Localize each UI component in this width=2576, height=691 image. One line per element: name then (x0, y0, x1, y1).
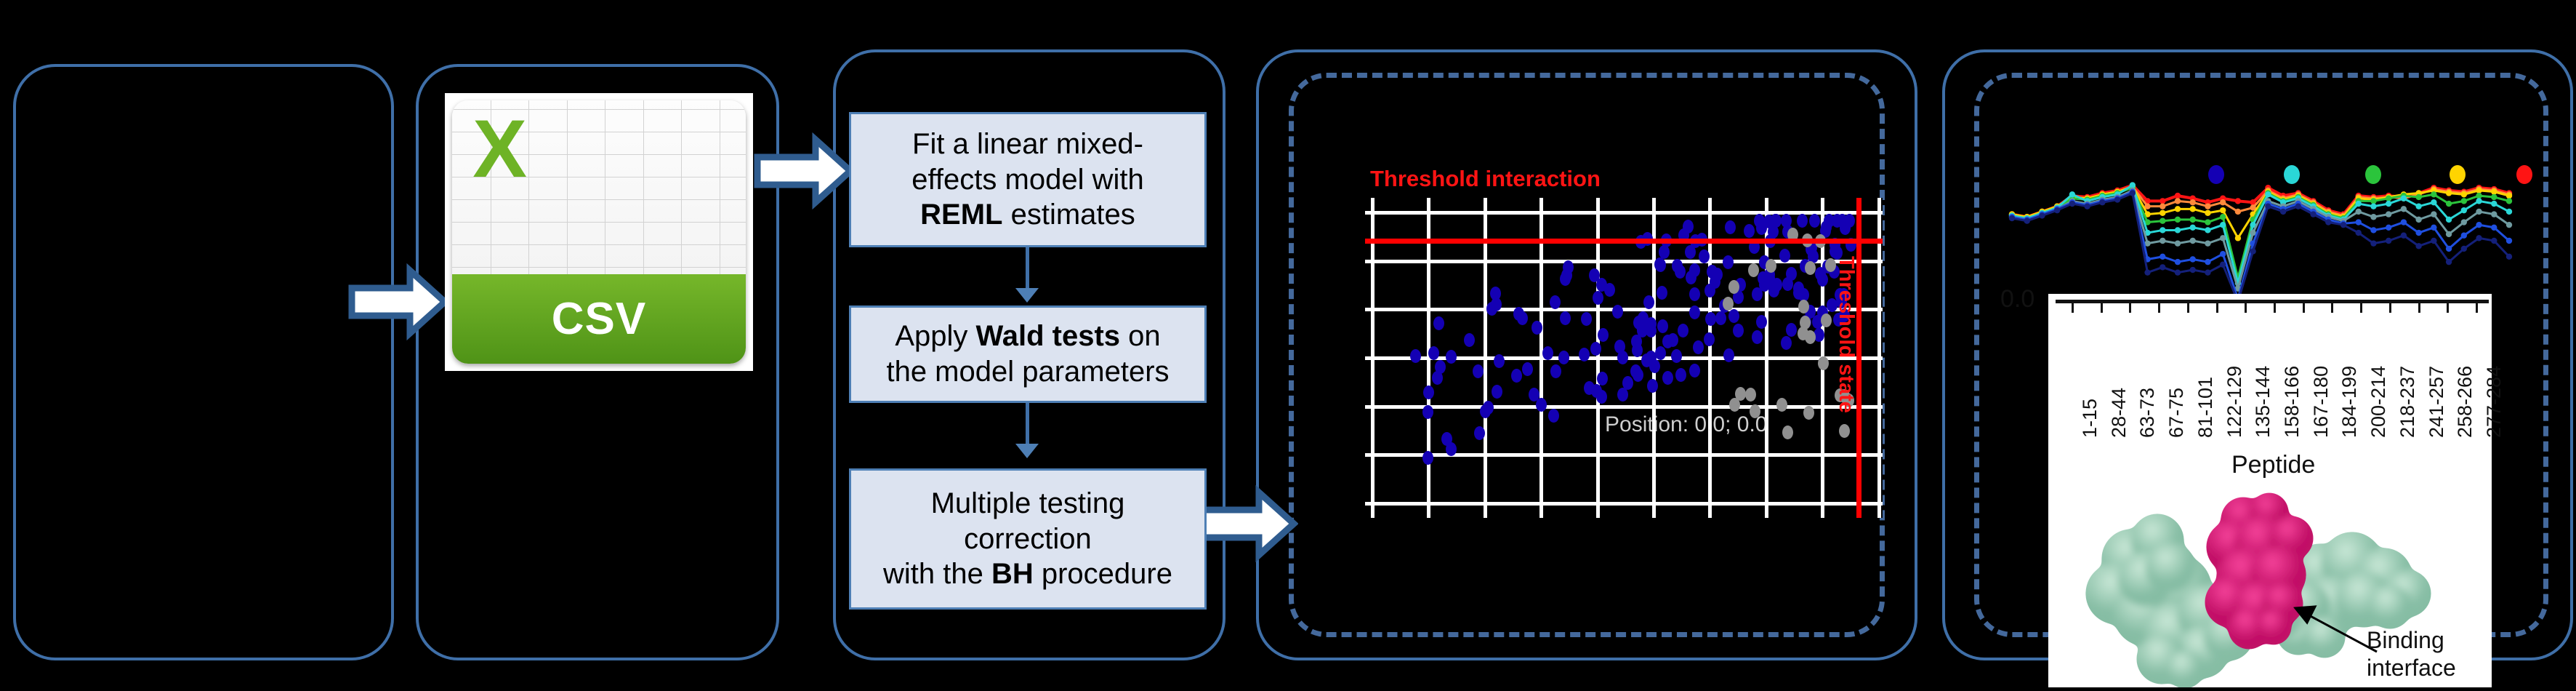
scatter-point-significant (1536, 398, 1547, 412)
scatter-point-significant (1494, 354, 1505, 368)
scatter-point-significant (1728, 309, 1739, 323)
peptide-data-point (2431, 225, 2436, 231)
scatter-point-significant (1598, 328, 1609, 342)
peptide-data-point (2190, 238, 2196, 244)
peptide-data-point (2491, 194, 2497, 200)
peptide-tick-label: 63-73 (2136, 388, 2159, 438)
peptide-tick-label: 81-101 (2194, 377, 2217, 438)
peptide-data-point (2476, 209, 2482, 215)
peptide-tick-label: 241-257 (2426, 366, 2448, 438)
peptide-data-point (2506, 198, 2512, 204)
peptide-data-point (2401, 233, 2407, 239)
peptide-data-point (2415, 203, 2421, 209)
scatter-point-significant (1649, 359, 1660, 373)
step-wald-bold: Wald tests (976, 320, 1121, 352)
step-wald-line2: the model parameters (886, 356, 1169, 388)
peptide-axis-tick (2216, 303, 2218, 313)
peptide-data-point (2310, 211, 2316, 217)
peptide-data-point (2160, 238, 2165, 244)
scatter-point-significant (1671, 349, 1682, 363)
excel-x-glyph: X (472, 108, 527, 190)
csv-file-icon: X CSV (445, 93, 753, 371)
scatter-point-significant (1550, 295, 1561, 309)
peptide-data-point (2446, 246, 2452, 252)
interaction-scatter-plot: Position: 0.0; 0.0 (1365, 198, 1883, 518)
scatter-point-significant (1490, 287, 1501, 300)
peptide-tick-label: 67-75 (2165, 388, 2188, 438)
scatter-point-significant (1522, 362, 1533, 376)
scatter-point-significant (1590, 342, 1601, 356)
scatter-gridline-h (1365, 502, 1883, 506)
scatter-point-nonsignificant (1798, 327, 1808, 340)
legend-dot-series-yellow (2450, 165, 2466, 184)
peptide-tick-label: 258-266 (2454, 366, 2476, 438)
scatter-point-significant (1786, 323, 1797, 337)
peptide-data-point (2431, 191, 2436, 197)
peptide-data-point (2160, 198, 2165, 204)
peptide-data-point (2054, 207, 2060, 213)
peptide-axis-tick (2101, 303, 2103, 313)
peptide-data-point (2009, 215, 2015, 221)
scatter-point-significant (1617, 388, 1628, 402)
peptide-data-point (2401, 206, 2407, 212)
peptide-data-point (2491, 225, 2497, 231)
peptide-data-point (2491, 238, 2497, 244)
scatter-point-nonsignificant (1782, 426, 1793, 439)
scatter-point-significant (1844, 214, 1855, 228)
scatter-point-significant (1612, 305, 1623, 319)
peptide-data-point (2175, 227, 2181, 233)
peptide-data-point (2205, 240, 2210, 246)
peptide-data-point (2160, 227, 2165, 233)
peptide-data-point (2476, 235, 2482, 241)
scatter-point-significant (1815, 267, 1826, 281)
scatter-point-significant (1689, 263, 1700, 277)
peptide-data-point (2401, 196, 2407, 201)
scatter-point-significant (1646, 317, 1657, 331)
scatter-point-significant (1693, 340, 1704, 354)
scatter-point-significant (1422, 451, 1433, 465)
scatter-point-significant (1655, 346, 1666, 360)
peptide-data-point (2386, 238, 2391, 244)
peptide-xtick-group: 1-1528-4463-7367-7581-101122-129135-1441… (2056, 303, 2489, 448)
peptide-data-point (2235, 235, 2241, 241)
scatter-point-significant (1657, 319, 1668, 333)
peptide-data-point (2461, 207, 2467, 213)
scatter-point-significant (1725, 220, 1736, 234)
peptide-data-point (2476, 222, 2482, 228)
connector-model-to-wald (1026, 247, 1029, 292)
scatter-point-significant (1563, 260, 1574, 274)
peptide-data-point (2205, 227, 2210, 233)
peptide-data-point (2160, 254, 2165, 260)
peptide-data-point (2386, 211, 2391, 217)
peptide-tick-label: 277-284 (2483, 366, 2505, 438)
peptide-axis-tick (2129, 303, 2131, 313)
scatter-point-nonsignificant (1839, 424, 1850, 438)
peptide-data-point (2431, 211, 2436, 217)
flowchart-canvas: X CSV Fit a linear mixed- effects model … (0, 0, 2576, 687)
scatter-point-significant (1435, 360, 1446, 374)
input-panel (13, 64, 394, 660)
peptide-data-point (2506, 193, 2512, 199)
peptide-data-point (2084, 203, 2090, 209)
peptide-data-point (2220, 222, 2226, 228)
peptide-data-point (2160, 203, 2165, 209)
peptide-data-point (2175, 240, 2181, 246)
peptide-data-point (2220, 251, 2226, 257)
scatter-point-significant (1797, 214, 1808, 228)
scatter-point-significant (1446, 350, 1457, 364)
peptide-tick-label: 1-15 (2079, 399, 2101, 438)
peptide-data-point (2506, 209, 2512, 215)
peptide-data-point (2461, 246, 2467, 252)
scatter-point-significant (1511, 369, 1522, 383)
binding-interface-line2: interface (2367, 655, 2456, 682)
scatter-point-significant (1723, 255, 1734, 269)
peptide-data-point (2160, 218, 2165, 224)
scatter-point-significant (1689, 364, 1700, 378)
peptide-data-point (2190, 267, 2196, 273)
peptide-data-point (2205, 219, 2210, 225)
scatter-point-significant (1723, 348, 1734, 362)
peptide-data-point (2386, 225, 2391, 231)
scatter-point-significant (1768, 284, 1779, 297)
peptide-data-point (2160, 264, 2165, 270)
peptide-data-point (2506, 238, 2512, 244)
scatter-point-significant (1705, 312, 1716, 326)
scatter-gridline-h (1365, 453, 1883, 457)
peptide-axis-tick (2245, 303, 2247, 313)
peptide-data-point (2190, 225, 2196, 231)
legend-dot-series-green (2365, 165, 2381, 184)
scatter-point-nonsignificant (1729, 398, 1740, 412)
scatter-point-significant (1548, 409, 1559, 423)
binding-interface-line1: Binding (2367, 627, 2456, 655)
binding-interface-annotation: Binding interface (2367, 627, 2456, 682)
scatter-point-significant (1474, 426, 1485, 440)
peptide-data-point (2446, 231, 2452, 237)
peptide-data-point (2250, 248, 2255, 254)
scatter-point-significant (1558, 351, 1569, 364)
peptide-data-point (2476, 193, 2482, 199)
peptide-data-point (2175, 198, 2181, 204)
peptide-data-point (2265, 203, 2271, 209)
scatter-point-significant (1492, 385, 1502, 399)
scatter-threshold-state-label: Threshold state (1834, 256, 1858, 413)
peptide-data-point (2144, 269, 2150, 275)
peptide-data-point (2220, 235, 2226, 241)
step-model-line1: Fit a linear mixed- (912, 128, 1143, 160)
csv-format-band: CSV (452, 274, 746, 364)
scatter-point-significant (1809, 214, 1820, 228)
peptide-tick-label: 218-237 (2396, 366, 2419, 438)
step-bh-box[interactable]: Multiple testing correction with the BH … (849, 468, 1207, 610)
step-bh-pre: with the (883, 558, 991, 590)
peptide-data-point (2325, 219, 2331, 225)
peptide-axis-tick (2331, 303, 2333, 313)
scatter-point-significant (1659, 245, 1670, 259)
peptide-data-point (2220, 207, 2226, 213)
scatter-point-significant (1560, 311, 1571, 325)
scatter-point-significant (1550, 364, 1561, 378)
step-wald-box[interactable]: Apply Wald tests on the model parameters (849, 305, 1207, 403)
scatter-point-significant (1764, 271, 1775, 285)
scatter-point-significant (1473, 364, 1484, 378)
peptide-data-point (2461, 233, 2467, 239)
peptide-axis-tick (2389, 303, 2391, 313)
scatter-point-significant (1704, 332, 1715, 346)
peptide-data-point (2340, 222, 2346, 228)
scatter-point-significant (1517, 311, 1528, 325)
peptide-tick-label: 184-199 (2338, 366, 2361, 438)
peptide-data-point (2370, 227, 2376, 233)
peptide-data-point (2295, 203, 2301, 209)
step-wald-post: on (1120, 320, 1161, 352)
peptide-data-point (2160, 210, 2165, 216)
peptide-data-point (2491, 211, 2497, 217)
connector-wald-to-bh (1026, 403, 1029, 448)
peptide-data-point (2356, 209, 2362, 215)
peptide-axis-tick (2447, 303, 2449, 313)
peptide-axis-tick (2418, 303, 2420, 313)
scatter-point-significant (1672, 259, 1683, 273)
peptide-data-point (2506, 254, 2512, 260)
scatter-point-significant (1781, 336, 1792, 350)
peptide-data-point (2415, 243, 2421, 249)
peptide-data-point (2190, 206, 2196, 212)
scatter-point-significant (1832, 214, 1843, 228)
scatter-point-significant (1782, 277, 1793, 291)
scatter-point-significant (1704, 284, 1715, 297)
peptide-data-point (2356, 230, 2362, 236)
arrow-data-to-analysis (753, 131, 855, 211)
peptide-data-point (2190, 199, 2196, 205)
scatter-point-significant (1423, 386, 1434, 399)
peptide-data-point (2069, 191, 2075, 197)
peptide-data-point (2461, 219, 2467, 225)
scatter-point-significant (1752, 287, 1763, 301)
scatter-point-significant (1675, 368, 1686, 382)
peptide-tick-label: 200-214 (2367, 366, 2390, 438)
y-axis-zero-tick: 0.0 (2000, 285, 2034, 313)
peptide-data-point (2491, 188, 2497, 194)
peptide-data-point (2130, 190, 2136, 196)
peptide-tick-label: 28-44 (2108, 388, 2130, 438)
scatter-point-significant (1604, 283, 1615, 297)
scatter-point-significant (1428, 346, 1439, 360)
peptide-data-point (2461, 191, 2467, 197)
scatter-position-readout: Position: 0.0; 0.0 (1605, 412, 1767, 437)
peptide-axis-tick (2303, 303, 2305, 313)
step-model-line2: effects model with (911, 164, 1143, 196)
scatter-threshold-interaction-label: Threshold interaction (1370, 166, 1601, 192)
step-model-line3-rest: estimates (1003, 199, 1135, 231)
peptide-data-point (2235, 198, 2241, 204)
peptide-data-point (2356, 201, 2362, 207)
peptide-data-point (2130, 182, 2136, 188)
peptide-data-point (2476, 198, 2482, 204)
legend-dot-series-darkblue (2208, 165, 2224, 184)
peptide-axis-tick (2274, 303, 2276, 313)
peptide-data-point (2446, 217, 2452, 223)
legend-dot-series-cyan (2284, 165, 2300, 184)
peptide-data-point (2370, 198, 2376, 204)
peptide-data-point (2205, 269, 2210, 275)
arrow-analysis-to-results (1196, 484, 1298, 564)
scatter-point-significant (1793, 281, 1804, 295)
peptide-data-point (2280, 209, 2286, 215)
scatter-point-significant (1410, 349, 1421, 363)
peptide-data-point (2506, 222, 2512, 228)
scatter-point-nonsignificant (1805, 261, 1816, 275)
peptide-data-point (2190, 256, 2196, 262)
scatter-point-significant (1464, 333, 1475, 347)
scatter-point-significant (1662, 371, 1673, 385)
peptide-data-point (2039, 212, 2045, 218)
peptide-data-point (2491, 201, 2497, 207)
connector-model-to-wald-head (1015, 288, 1039, 303)
scatter-point-significant (1689, 287, 1700, 301)
peptide-data-point (2175, 193, 2181, 199)
scatter-point-significant (1542, 346, 1553, 360)
peptide-data-point (2356, 219, 2362, 225)
peptide-data-point (2114, 196, 2120, 202)
peptide-data-point (2069, 201, 2075, 207)
peptide-data-point (2175, 206, 2181, 212)
step-bh-line1: Multiple testing (931, 487, 1125, 519)
scatter-point-significant (1597, 372, 1608, 386)
scatter-point-nonsignificant (1766, 259, 1776, 273)
scatter-point-significant (1715, 311, 1726, 325)
peptide-data-point (2175, 217, 2181, 223)
peptide-data-point (2401, 219, 2407, 225)
peptide-data-point (2431, 238, 2436, 244)
step-bh-post: procedure (1034, 558, 1172, 590)
peptide-data-point (2235, 209, 2241, 215)
connector-wald-to-bh-head (1015, 444, 1039, 458)
peptide-axis-tick (2072, 303, 2074, 313)
scatter-point-nonsignificant (1821, 313, 1832, 327)
peptide-data-point (2220, 262, 2226, 268)
peptide-data-point (2415, 194, 2421, 200)
peptide-data-point (2190, 217, 2196, 223)
scatter-point-nonsignificant (1728, 280, 1739, 294)
scatter-point-nonsignificant (1745, 388, 1756, 402)
peptide-data-point (2175, 259, 2181, 265)
scatter-point-significant (1733, 324, 1744, 337)
peptide-data-point (2205, 259, 2210, 265)
scatter-point-significant (1441, 432, 1452, 446)
peptide-data-point (2220, 199, 2226, 205)
csv-format-label: CSV (552, 293, 646, 345)
scatter-point-significant (1657, 286, 1667, 300)
step-model-reml: REML (920, 199, 1002, 231)
peptide-data-point (2370, 214, 2376, 220)
scatter-point-significant (1630, 364, 1641, 378)
peptide-axis-tick (2360, 303, 2362, 313)
peptide-data-point (2386, 196, 2391, 201)
peptide-data-point (2099, 199, 2105, 205)
scatter-point-significant (1689, 305, 1700, 319)
peptide-tick-label: 158-166 (2281, 366, 2303, 438)
step-bh-line2: correction (964, 523, 1092, 555)
peptide-axis-tick (2476, 303, 2478, 313)
peptide-data-point (2415, 230, 2421, 236)
peptide-data-point (2024, 218, 2030, 224)
scatter-point-significant (1752, 330, 1763, 344)
peptide-axis-tick (2158, 303, 2160, 313)
peptide-data-point (2386, 201, 2391, 207)
scatter-point-significant (1655, 258, 1666, 272)
scatter-point-significant (1433, 316, 1444, 330)
peptide-axis-tick (2187, 303, 2189, 313)
peptide-data-point (2205, 203, 2210, 209)
scatter-point-nonsignificant (1723, 297, 1734, 311)
step-wald-pre: Apply (895, 320, 975, 352)
scatter-point-significant (1744, 224, 1755, 238)
scatter-point-significant (1632, 343, 1643, 357)
peptide-data-point (2220, 214, 2226, 220)
step-bh-bold: BH (991, 558, 1034, 590)
peptide-tick-label: 135-144 (2252, 366, 2274, 438)
step-model-box[interactable]: Fit a linear mixed- effects model with R… (849, 112, 1207, 247)
peptide-chart-svg (2005, 166, 2521, 308)
peptide-data-point (2370, 203, 2376, 209)
legend-dot-series-red (2516, 165, 2532, 184)
scatter-point-significant (1643, 295, 1654, 309)
peptide-data-point (2370, 240, 2376, 246)
scatter-point-significant (1593, 291, 1603, 305)
peptide-line-chart (2005, 166, 2521, 308)
peptide-data-point (2446, 259, 2452, 265)
arrow-input-to-data (347, 262, 449, 342)
peptide-data-point (2175, 269, 2181, 275)
scatter-point-significant (1647, 379, 1658, 393)
peptide-data-point (2205, 210, 2210, 216)
scatter-point-significant (1422, 405, 1433, 419)
scatter-point-nonsignificant (1776, 398, 1787, 412)
peptide-data-point (2476, 188, 2482, 193)
peptide-data-point (2461, 198, 2467, 204)
scatter-point-nonsignificant (1803, 406, 1814, 420)
scatter-point-significant (1581, 312, 1592, 326)
peptide-data-point (2265, 191, 2271, 197)
peptide-data-point (2431, 199, 2436, 205)
peptide-data-point (2446, 201, 2452, 207)
scatter-threshold-interaction-line (1365, 239, 1883, 244)
scatter-point-significant (1483, 401, 1494, 415)
peptide-tick-label: 122-129 (2223, 366, 2246, 438)
scatter-point-nonsignificant (1818, 356, 1829, 370)
peptide-data-point (2446, 190, 2452, 196)
scatter-point-significant (1591, 384, 1602, 398)
scatter-point-significant (1678, 324, 1689, 337)
peptide-tick-label: 167-180 (2310, 366, 2333, 438)
peptide-data-point (2415, 217, 2421, 223)
